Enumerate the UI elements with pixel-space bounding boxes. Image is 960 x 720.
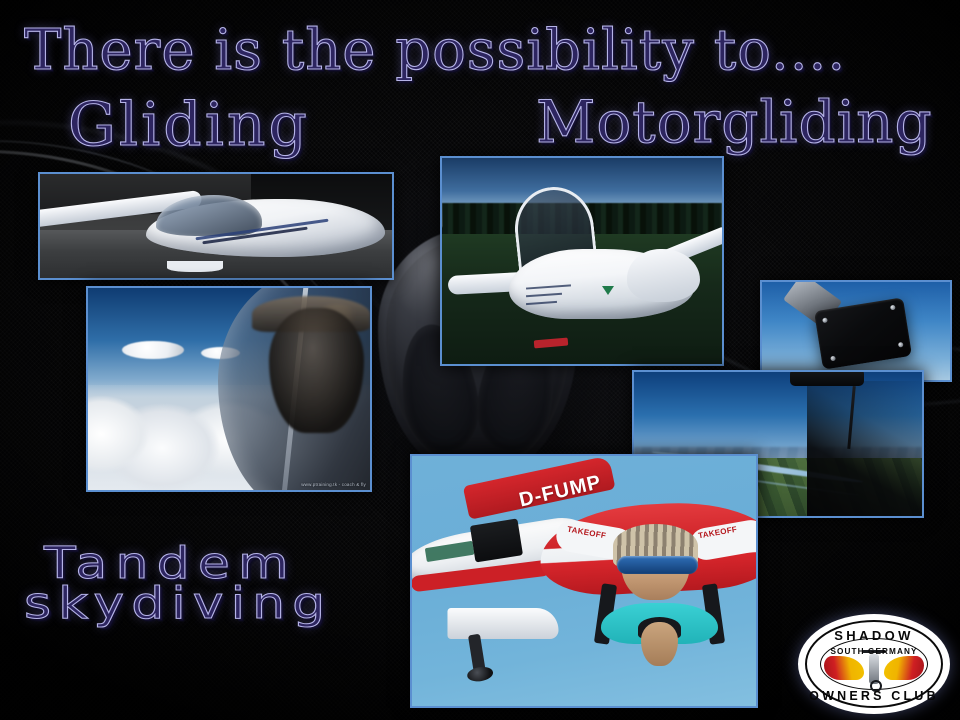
photo-tandem-skydive-exit-image: D-FUMP TAKEOFF TAKEOFF bbox=[412, 456, 756, 706]
logo-wing-left bbox=[824, 656, 864, 680]
passenger-face bbox=[641, 622, 678, 666]
shadow-owners-club-logo: SHADOW SOUTH GERMANY OWNERS CLUB bbox=[798, 614, 950, 714]
pilot-reflection bbox=[269, 308, 365, 433]
presentation-slide: www.ptraining.tk - coach & fly bbox=[0, 0, 960, 720]
logo-middle-text: SOUTH GERMANY bbox=[798, 647, 950, 656]
aircraft-wing bbox=[447, 608, 558, 639]
motorglider-green-marking bbox=[602, 286, 614, 295]
tandem-passenger bbox=[621, 600, 698, 684]
photo-glider-in-hangar-image bbox=[40, 174, 392, 278]
camera-screw-bl bbox=[831, 355, 837, 361]
cockpit-overhead-unit bbox=[790, 372, 865, 386]
instructor-goggles bbox=[617, 556, 698, 574]
photo-watermark: www.ptraining.tk - coach & fly bbox=[301, 482, 366, 487]
glider-landing-gear bbox=[167, 261, 223, 271]
photo-motorglider-on-grass bbox=[440, 156, 724, 366]
cloud-upper bbox=[122, 341, 184, 359]
photo-motorglider-on-grass-image bbox=[442, 158, 722, 364]
photo-clouds-from-cockpit: www.ptraining.tk - coach & fly bbox=[86, 286, 372, 492]
photo-wing-camera-mount-image bbox=[762, 282, 950, 380]
camera-screw-tr bbox=[891, 304, 897, 310]
aircraft-jump-door bbox=[470, 518, 523, 562]
logo-bottom-text: OWNERS CLUB bbox=[798, 689, 950, 703]
photo-clouds-from-cockpit-image: www.ptraining.tk - coach & fly bbox=[88, 288, 370, 490]
tandem-instructor: TAKEOFF TAKEOFF bbox=[563, 496, 756, 696]
photo-glider-in-hangar bbox=[38, 172, 394, 280]
camera-screw-br bbox=[898, 342, 904, 348]
camera-screw-tl bbox=[823, 317, 829, 323]
photo-wing-camera-mount bbox=[760, 280, 952, 382]
cockpit-interior-shadow bbox=[807, 381, 922, 516]
photo-tandem-skydive-exit: D-FUMP TAKEOFF TAKEOFF bbox=[410, 454, 758, 708]
logo-wing-right bbox=[884, 656, 924, 680]
logo-top-text: SHADOW bbox=[798, 628, 950, 643]
